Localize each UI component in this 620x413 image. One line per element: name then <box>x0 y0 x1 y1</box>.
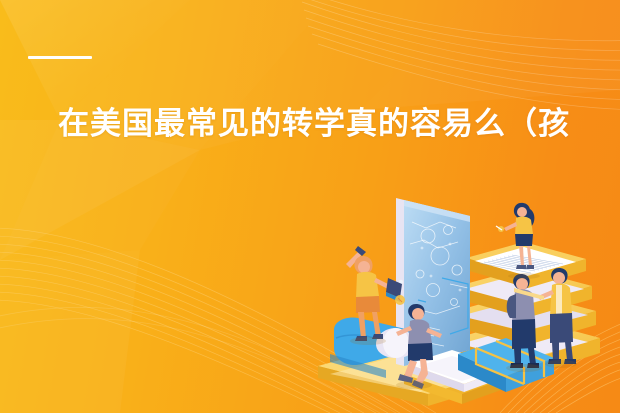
promo-banner: 在美国最常见的转学真的容易么（孩 <box>0 0 620 413</box>
isometric-education-illustration <box>300 178 620 413</box>
banner-headline: 在美国最常见的转学真的容易么（孩 <box>58 104 598 144</box>
accent-rule <box>28 56 92 59</box>
illustration-container <box>300 178 620 413</box>
